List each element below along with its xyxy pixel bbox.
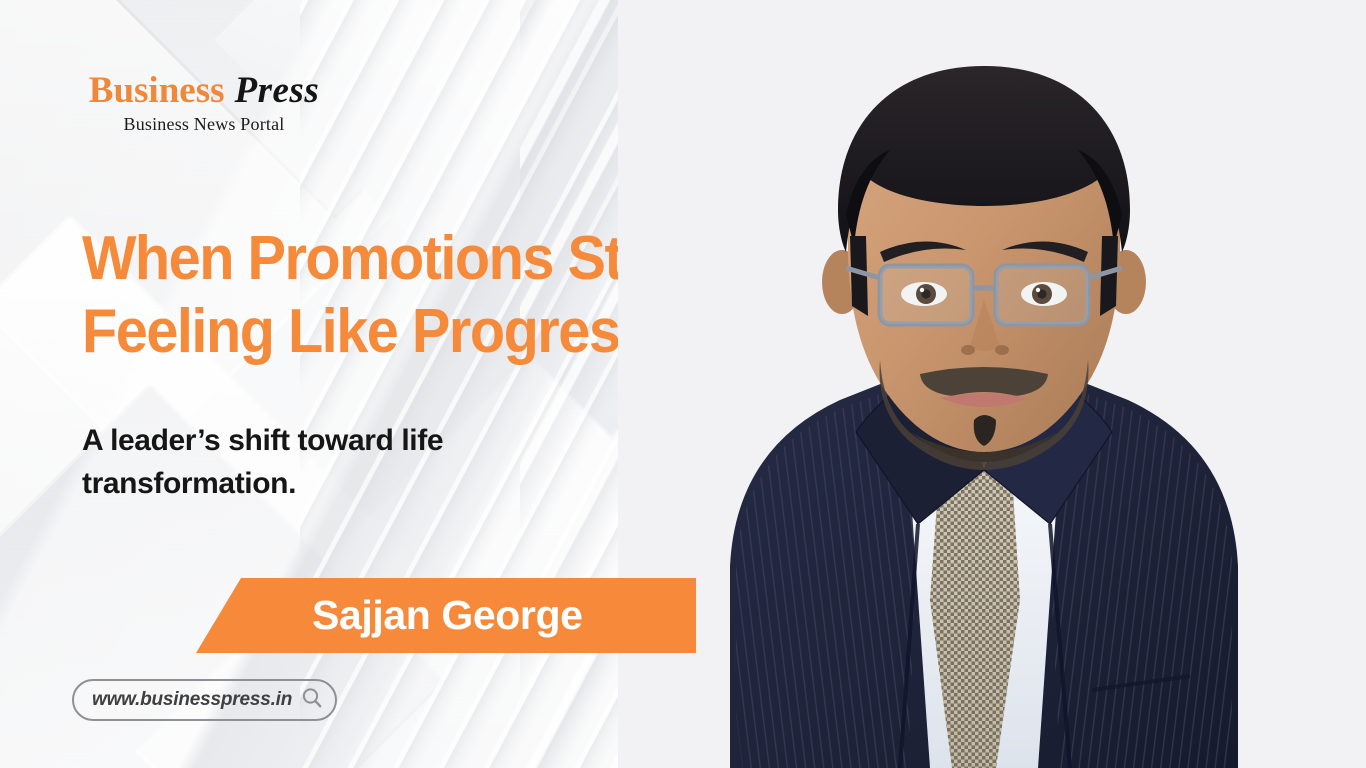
brand-logo[interactable]: BusinessPress Business News Portal: [74, 72, 334, 135]
logo-word-press: Press: [235, 70, 320, 111]
social-media-card: BusinessPress Business News Portal When …: [0, 0, 1366, 768]
logo-word-business: Business: [89, 70, 225, 111]
speaker-name: Sajjan George: [312, 592, 583, 639]
logo-wordmark: BusinessPress: [74, 72, 334, 111]
website-url-text: www.businesspress.in: [92, 689, 292, 711]
portrait-photo: [618, 0, 1366, 768]
search-icon: [300, 686, 324, 715]
website-url-badge[interactable]: www.businesspress.in: [72, 679, 337, 721]
page-subtitle: A leader’s shift toward life transformat…: [82, 420, 552, 505]
logo-tagline: Business News Portal: [74, 114, 334, 135]
